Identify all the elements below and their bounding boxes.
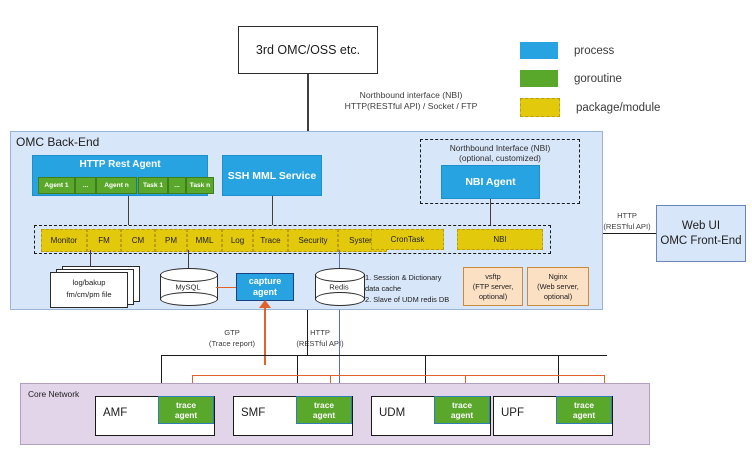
backend-http-downlink (307, 310, 308, 355)
module-list: Monitor FM CM PM MML Log Trace Security … (41, 229, 387, 250)
nf-box-upf: UPF trace agent (493, 396, 613, 436)
document-sheet-front: log/bakup fm/cm/pm file (50, 272, 128, 308)
legend-item-goroutine: goroutine (520, 70, 750, 87)
trace-agent-upf: trace agent (556, 396, 612, 424)
modules-to-mysql-connector (188, 250, 189, 269)
module-fm: FM (87, 229, 121, 252)
goroutine-swatch-icon (520, 70, 558, 87)
nf-label-upf: UPF (501, 407, 524, 419)
mysql-cylinder-bottom (160, 292, 218, 306)
legend-item-process: process (520, 42, 750, 59)
document-label-line2: fm/cm/pm file (51, 289, 127, 301)
redis-database: Redis (315, 268, 363, 306)
http-rest-to-modules-connector (128, 196, 129, 225)
agent-goroutine-group: Agent 1 ... Agent n (38, 177, 137, 194)
module-security: Security (288, 229, 338, 252)
goroutine-task-1: Task 1 (138, 177, 168, 194)
vsftp-server-box: vsftp (FTP server, optional) (463, 267, 523, 306)
gtp-connector-caption: GTP (Trace report) (196, 327, 268, 349)
module-cm: CM (121, 229, 155, 252)
modules-to-redis-connector (339, 250, 340, 269)
webui-link-line1: HTTP (596, 210, 658, 221)
capture-agent-uplink-arrow-icon (259, 300, 271, 308)
http-rest-agent-box: HTTP Rest Agent Agent 1 ... Agent n Task… (32, 155, 208, 196)
process-swatch-icon (520, 42, 558, 59)
redis-cylinder-bottom (315, 292, 365, 306)
http-rest-agent-title: HTTP Rest Agent (33, 159, 207, 170)
http-caption-line1: HTTP (284, 327, 356, 338)
goroutine-agent-ellipsis: ... (75, 177, 96, 194)
trace-agent-amf-line2: agent (175, 410, 197, 420)
nf-box-amf: AMF trace agent (95, 396, 215, 436)
module-nbi: NBI (457, 229, 543, 250)
nbi-agent-label: NBI Agent (465, 176, 515, 188)
third-party-omc-oss-box: 3rd OMC/OSS etc. (238, 26, 378, 74)
nginx-server-box: Nginx (Web server, optional) (527, 267, 589, 306)
webui-link-caption: HTTP (RESTful API) (596, 210, 658, 232)
mysql-label: MySQL (160, 283, 216, 292)
nginx-line3: optional) (537, 292, 579, 302)
web-ui-line2: OMC Front-End (660, 234, 741, 249)
legend-label-package: package/module (576, 102, 660, 114)
module-mml: MML (187, 229, 222, 252)
northbound-interface-caption: Northbound interface (NBI) HTTP(RESTful … (296, 90, 526, 112)
trace-bus-horizontal (192, 375, 605, 376)
legend-item-package: package/module (520, 98, 750, 117)
third-party-omc-oss-label: 3rd OMC/OSS etc. (256, 43, 360, 57)
document-label-line1: log/bakup (51, 277, 127, 289)
redis-note-line1: 1. Session & Dictionary (365, 272, 475, 283)
package-swatch-icon (520, 98, 560, 117)
redis-note-line2: data cache (365, 283, 475, 294)
legend-label-process: process (574, 45, 614, 57)
backend-to-webui-connector (603, 233, 656, 234)
trace-agent-smf: trace agent (296, 396, 352, 424)
nf-label-smf: SMF (241, 407, 265, 419)
gtp-caption-line2: (Trace report) (196, 338, 268, 349)
vsftp-line2: (FTP server, (473, 282, 514, 292)
goroutine-agent-n: Agent n (96, 177, 137, 194)
capture-agent-box: capture agent (236, 273, 294, 301)
omc-backend-title: OMC Back-End (16, 135, 99, 149)
redis-cylinder-top (315, 268, 365, 282)
nbi-caption-line1: Northbound interface (NBI) (296, 90, 526, 101)
nf-label-amf: AMF (103, 407, 127, 419)
trace-agent-upf-line1: trace (573, 400, 595, 410)
nbi-group-line1: Northbound Interface (NBI) (421, 143, 579, 153)
module-crontask: CronTask (371, 229, 444, 250)
vsftp-line3: optional) (473, 292, 514, 302)
nbi-caption-line2: HTTP(RESTful API) / Socket / FTP (296, 101, 526, 112)
http-caption-line2: (RESTful API) (284, 338, 356, 349)
trace-agent-udm-line1: trace (451, 400, 473, 410)
trace-agent-smf-line2: agent (313, 410, 335, 420)
task-goroutine-group: Task 1 ... Task n (138, 177, 214, 194)
trace-agent-upf-line2: agent (573, 410, 595, 420)
legend-label-goroutine: goroutine (574, 73, 622, 85)
ssh-mml-service-label: SSH MML Service (228, 170, 317, 182)
web-ui-line1: Web UI (660, 219, 741, 234)
goroutine-task-ellipsis: ... (168, 177, 186, 194)
nbi-agent-box: NBI Agent (441, 165, 540, 199)
trace-agent-amf-line1: trace (175, 400, 197, 410)
trace-agent-udm: trace agent (434, 396, 490, 424)
document-label: log/bakup fm/cm/pm file (51, 277, 127, 301)
module-trace: Trace (253, 229, 288, 252)
mysql-cylinder-top (160, 268, 218, 282)
capture-agent-line2: agent (249, 287, 282, 298)
ssh-mml-service-box: SSH MML Service (222, 155, 322, 196)
trace-agent-smf-line1: trace (313, 400, 335, 410)
redis-notes: 1. Session & Dictionary data cache 2. Sl… (365, 272, 475, 305)
nf-label-udm: UDM (379, 407, 405, 419)
nbi-group-caption: Northbound Interface (NBI) (optional, cu… (421, 143, 579, 163)
log-backup-documents: log/bakup fm/cm/pm file (50, 266, 138, 306)
ssh-mml-to-modules-connector (272, 196, 273, 225)
goroutine-agent-1: Agent 1 (38, 177, 75, 194)
nbi-agent-to-modules-connector (490, 199, 491, 225)
capture-agent-line1: capture (249, 276, 282, 287)
vsftp-line1: vsftp (473, 272, 514, 282)
nf-box-smf: SMF trace agent (233, 396, 353, 436)
http-connector-caption: HTTP (RESTful API) (284, 327, 356, 349)
nginx-line1: Nginx (537, 272, 579, 282)
redis-note-line3: 2. Slave of UDM redis DB (365, 294, 475, 305)
nf-box-udm: UDM trace agent (371, 396, 491, 436)
redis-label: Redis (315, 283, 363, 292)
trace-agent-udm-line2: agent (451, 410, 473, 420)
nf-bus-horizontal (161, 355, 607, 356)
module-monitor: Monitor (41, 229, 87, 252)
mysql-to-capture-agent-connector (216, 287, 236, 288)
gtp-caption-line1: GTP (196, 327, 268, 338)
module-log: Log (222, 229, 253, 252)
nbi-group-line2: (optional, customized) (421, 153, 579, 163)
nginx-line2: (Web server, (537, 282, 579, 292)
module-pm: PM (155, 229, 187, 252)
goroutine-task-n: Task n (186, 177, 214, 194)
core-network-title: Core Network (28, 389, 79, 399)
legend: process goroutine package/module (520, 42, 750, 128)
web-ui-frontend-box: Web UI OMC Front-End (656, 205, 746, 262)
mysql-database: MySQL (160, 268, 216, 306)
webui-link-line2: (RESTful API) (596, 221, 658, 232)
trace-agent-amf: trace agent (158, 396, 214, 424)
